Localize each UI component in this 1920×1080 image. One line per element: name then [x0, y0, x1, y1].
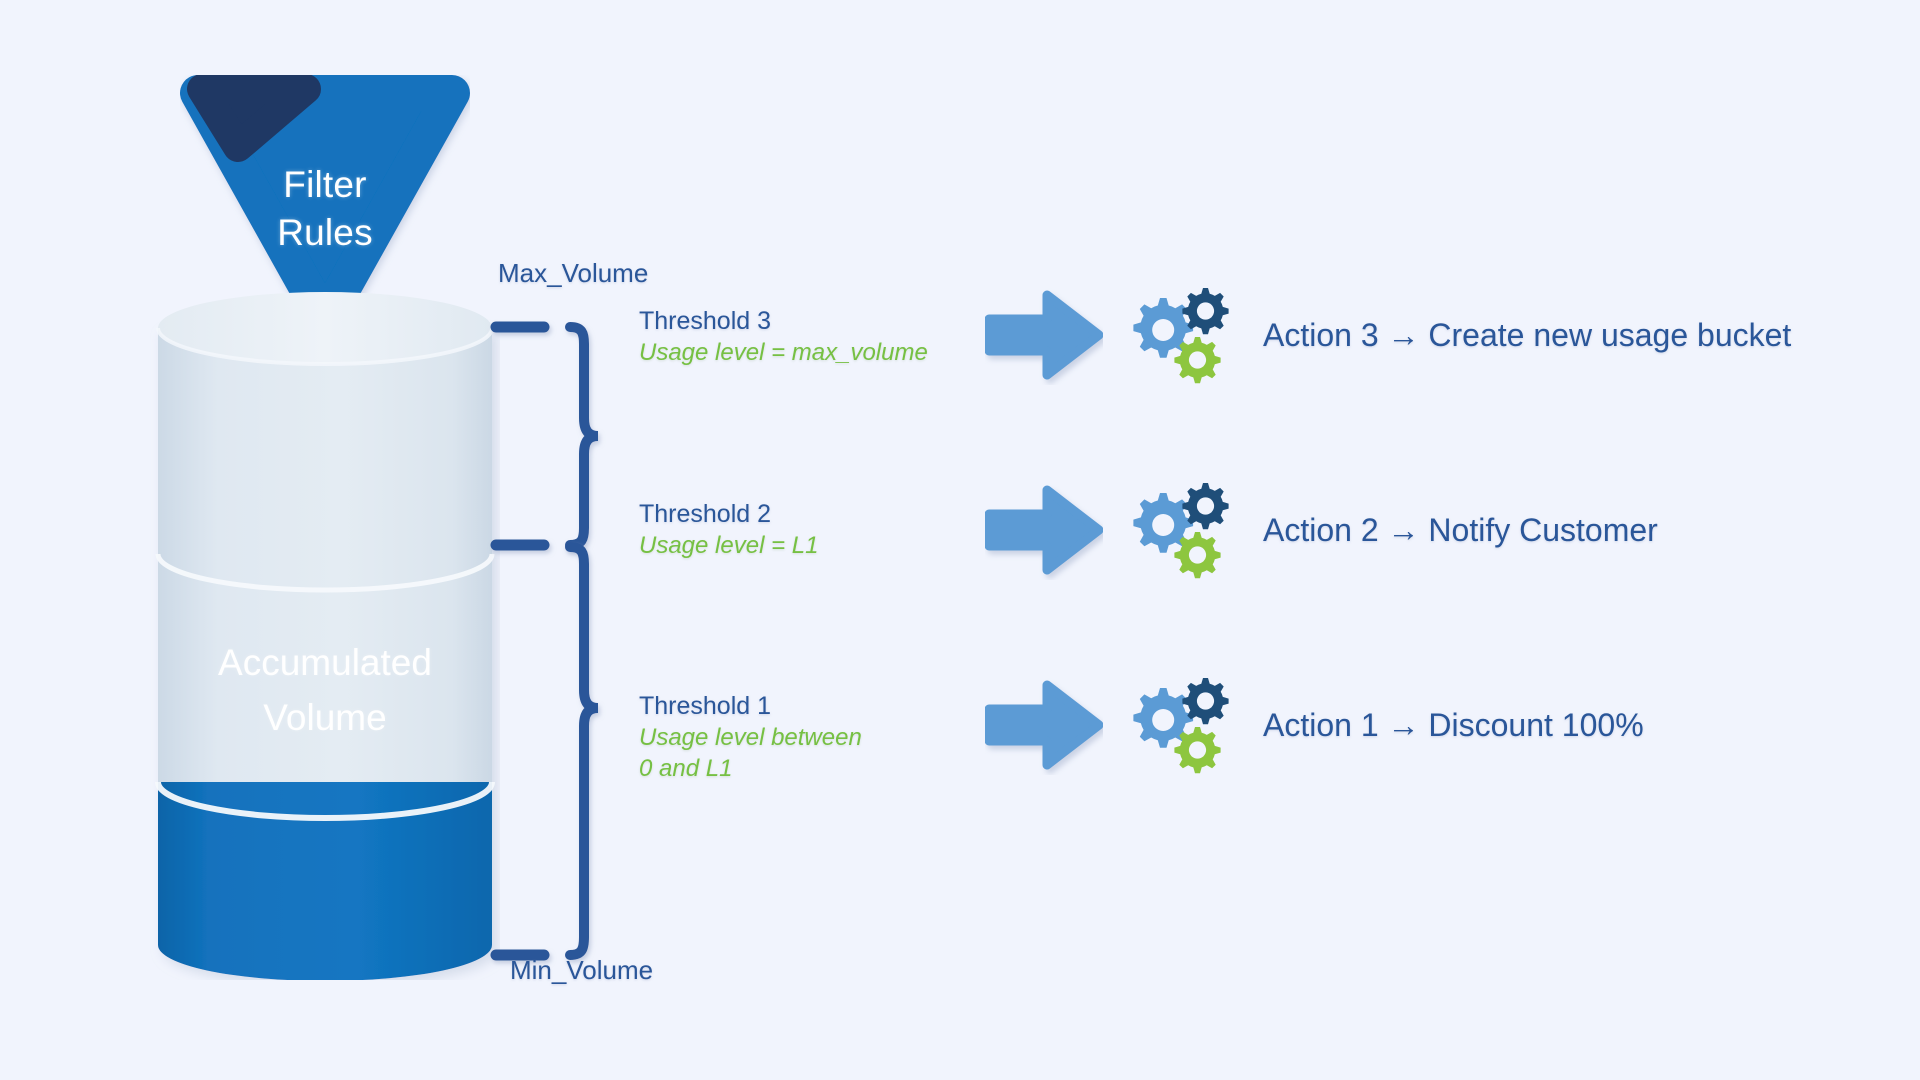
threshold-1-condition-line1: Usage level between — [639, 722, 999, 753]
threshold-2-title: Threshold 2 — [639, 498, 999, 530]
gear-navy — [1182, 483, 1228, 529]
threshold-3-title: Threshold 3 — [639, 305, 999, 337]
gears-icon — [1119, 670, 1237, 780]
cylinder-shape — [150, 290, 500, 980]
gear-green — [1174, 727, 1220, 773]
threshold-scale — [480, 300, 610, 980]
action-row-3[interactable]: Action 3 → Create new usage bucket — [985, 275, 1791, 395]
brace-upper — [570, 327, 598, 545]
threshold-1-block: Threshold 1 Usage level between 0 and L1 — [639, 690, 999, 784]
threshold-1-title: Threshold 1 — [639, 690, 999, 722]
action-row-1[interactable]: Action 1 → Discount 100% — [985, 665, 1644, 785]
action-3-text: Action 3 → Create new usage bucket — [1263, 317, 1791, 354]
threshold-2-block: Threshold 2 Usage level = L1 — [639, 498, 999, 561]
threshold-1-condition-line2: 0 and L1 — [639, 753, 999, 784]
arrow-right-icon — [985, 480, 1103, 580]
max-volume-label: Max_Volume — [498, 258, 648, 289]
usage-volume-cylinder[interactable]: Accumulated Volume — [150, 290, 500, 980]
threshold-3-block: Threshold 3 Usage level = max_volume — [639, 305, 999, 368]
gear-green — [1174, 532, 1220, 578]
action-row-2[interactable]: Action 2 → Notify Customer — [985, 470, 1658, 590]
brace-lower — [570, 547, 598, 955]
min-volume-label: Min_Volume — [510, 955, 653, 986]
arrow-right-icon — [985, 675, 1103, 775]
action-2-text: Action 2 → Notify Customer — [1263, 512, 1658, 549]
action-1-text: Action 1 → Discount 100% — [1263, 707, 1644, 744]
gears-icon — [1119, 280, 1237, 390]
gear-navy — [1182, 678, 1228, 724]
threshold-3-condition-line1: Usage level = max_volume — [639, 337, 999, 368]
diagram-canvas: Filter Rules — [0, 0, 1920, 1080]
gears-icon — [1119, 475, 1237, 585]
gear-green — [1174, 337, 1220, 383]
gear-navy — [1182, 288, 1228, 334]
threshold-2-condition-line1: Usage level = L1 — [639, 530, 999, 561]
arrow-right-icon — [985, 285, 1103, 385]
